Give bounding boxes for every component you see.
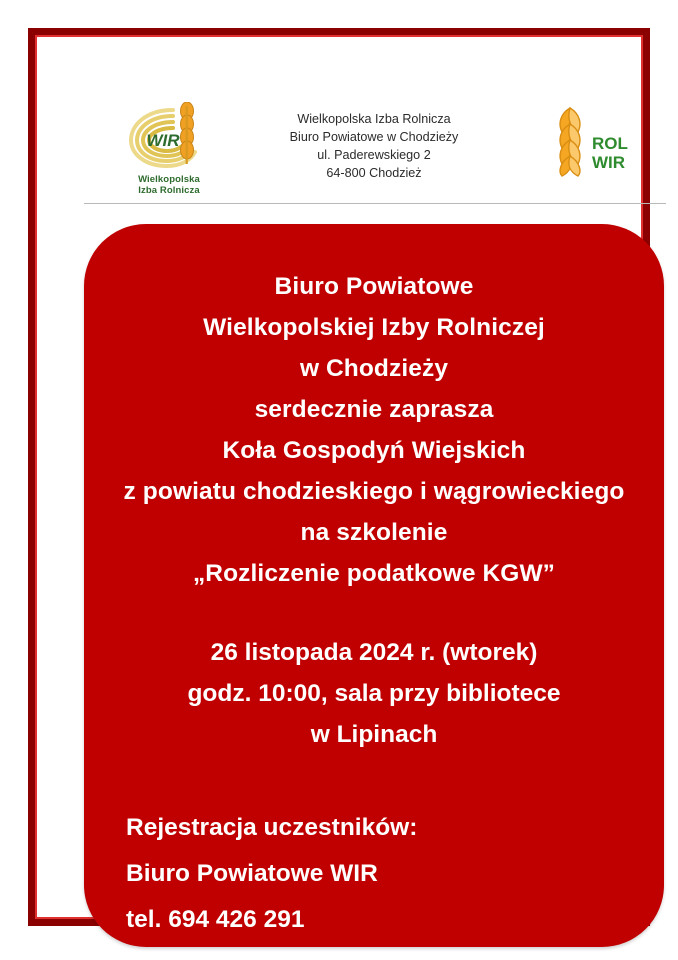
wir-logo-caption-line2: Izba Rolnicza <box>116 185 222 196</box>
rol-wir-logo: ROL WIR <box>540 102 650 180</box>
event-time-venue: godz. 10:00, sala przy bibliotece <box>110 673 638 714</box>
announcement-panel: Biuro Powiatowe Wielkopolskiej Izby Roln… <box>84 224 664 947</box>
registration-block: Rejestracja uczestników: Biuro Powiatowe… <box>110 805 638 943</box>
spacer <box>110 755 638 805</box>
training-title: „Rozliczenie podatkowe KGW” <box>110 553 638 594</box>
svg-text:ROL: ROL <box>592 134 628 153</box>
svg-text:WIR: WIR <box>592 153 625 172</box>
invitation-line: Biuro Powiatowe <box>110 266 638 307</box>
poster-content: WIR Wielkopolska Izba Rolnicza Wielkopol… <box>72 72 676 952</box>
registration-office: Biuro Powiatowe WIR <box>126 851 638 897</box>
invitation-line: w Chodzieży <box>110 348 638 389</box>
invitation-line: na szkolenie <box>110 512 638 553</box>
event-details-block: 26 listopada 2024 r. (wtorek) godz. 10:0… <box>110 632 638 755</box>
event-date: 26 listopada 2024 r. (wtorek) <box>110 632 638 673</box>
invitation-line: serdecznie zaprasza <box>110 389 638 430</box>
invitation-line: z powiatu chodzieskiego i wągrowieckiego <box>110 471 638 512</box>
header-divider <box>84 203 666 204</box>
poster-header: WIR Wielkopolska Izba Rolnicza Wielkopol… <box>72 72 676 200</box>
registration-phone: tel. 694 426 291 <box>126 897 638 943</box>
invitation-line: Wielkopolskiej Izby Rolniczej <box>110 307 638 348</box>
announcement-panel-body: Biuro Powiatowe Wielkopolskiej Izby Roln… <box>84 224 664 943</box>
poster-frame: WIR Wielkopolska Izba Rolnicza Wielkopol… <box>28 28 650 926</box>
invitation-block: Biuro Powiatowe Wielkopolskiej Izby Roln… <box>110 266 638 594</box>
rol-wir-wheat-logo-icon: ROL WIR <box>540 102 650 180</box>
invitation-line: Koła Gospodyń Wiejskich <box>110 430 638 471</box>
spacer <box>110 594 638 632</box>
registration-heading: Rejestracja uczestników: <box>126 805 638 851</box>
poster-page: WIR Wielkopolska Izba Rolnicza Wielkopol… <box>0 0 678 960</box>
event-location: w Lipinach <box>110 714 638 755</box>
